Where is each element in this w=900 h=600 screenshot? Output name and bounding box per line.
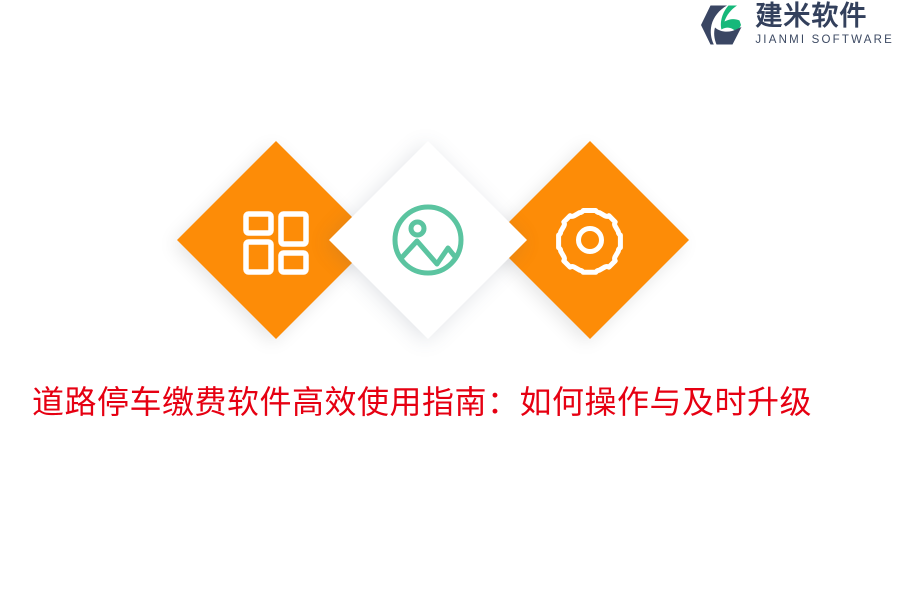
jianmi-logo-icon	[697, 1, 745, 49]
diamond-image[interactable]	[329, 141, 527, 339]
dashboard-grid-icon	[228, 192, 324, 288]
hero-diamond-cluster	[0, 140, 900, 340]
brand-name-cn: 建米软件	[755, 3, 894, 30]
brand-text-block: 建米软件 JIANMI SOFTWARE	[755, 3, 894, 47]
brand-name-en: JIANMI SOFTWARE	[755, 35, 894, 47]
brand-logo[interactable]: 建米软件 JIANMI SOFTWARE	[697, 0, 894, 50]
image-placeholder-icon	[380, 192, 476, 288]
gear-icon	[542, 192, 638, 288]
page-title: 道路停车缴费软件高效使用指南：如何操作与及时升级	[32, 381, 872, 424]
